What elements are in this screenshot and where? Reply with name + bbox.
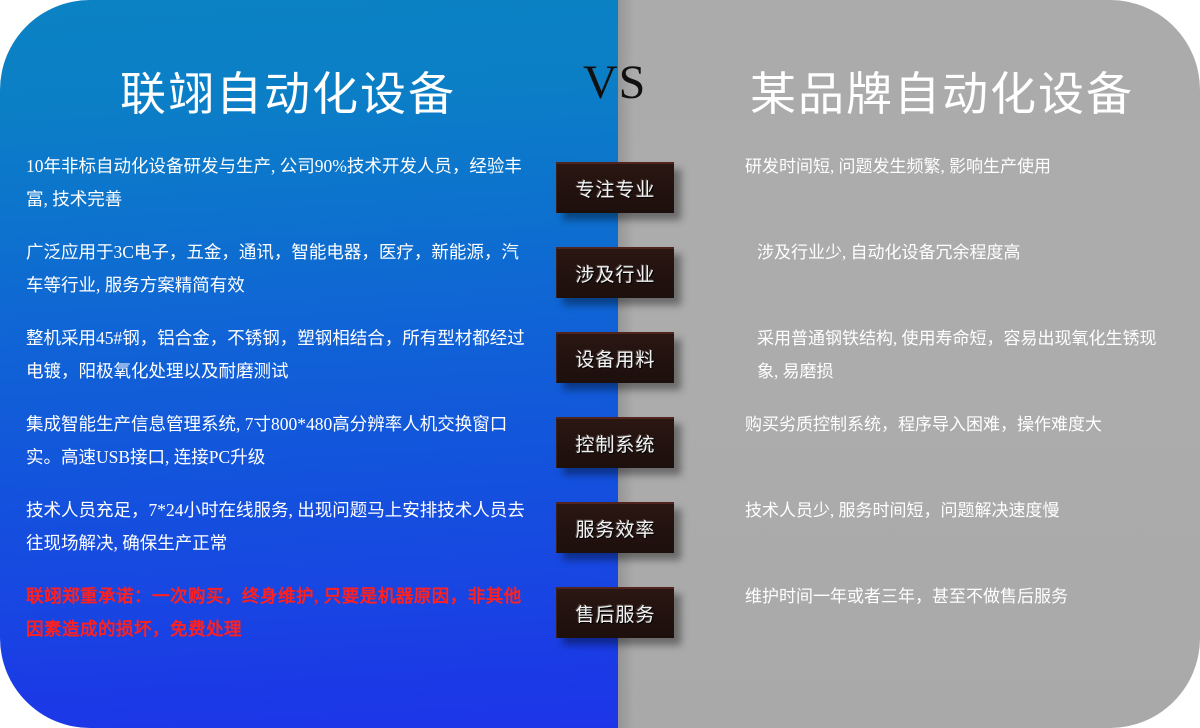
plaque-wrap-2: 涉及行业 [556, 247, 686, 332]
plaque-wrap-5: 服务效率 [556, 502, 686, 587]
left-row-2: 广泛应用于3C电子，五金，通讯，智能电器，医疗，新能源，汽车等行业, 服务方案精… [26, 236, 526, 322]
plaque-label: 设备用料 [575, 345, 655, 372]
plaque-label: 涉及行业 [575, 260, 655, 287]
category-plaque-zhuanzhuzhuanye[interactable]: 专注专业 [556, 162, 674, 213]
right-row-4: 购买劣质控制系统，程序导入困难，操作难度大 [745, 408, 1175, 494]
right-row-5: 技术人员少, 服务时间短，问题解决速度慢 [745, 494, 1175, 580]
left-row-5: 技术人员充足，7*24小时在线服务, 出现问题马上安排技术人员去往现场解决, 确… [26, 494, 526, 580]
category-plaque-shouhoufuwu[interactable]: 售后服务 [556, 587, 674, 638]
left-brand-title: 联翊自动化设备 [120, 58, 456, 124]
plaque-label: 控制系统 [575, 430, 655, 457]
left-row-4: 集成智能生产信息管理系统, 7寸800*480高分辨率人机交换窗口实。高速USB… [26, 408, 526, 494]
category-plaque-column: 专注专业 涉及行业 设备用料 控制系统 服务效率 售后服务 [556, 162, 686, 672]
category-plaque-kongzhixitong[interactable]: 控制系统 [556, 417, 674, 468]
left-row-6-promise: 联翊郑重承诺：一次购买，终身维护, 只要是机器原因，非其他因素造成的损坏，免费处… [26, 580, 526, 666]
right-brand-title: 某品牌自动化设备 [750, 58, 1134, 124]
right-row-6: 维护时间一年或者三年，甚至不做售后服务 [745, 580, 1175, 666]
right-drawbacks-column: 研发时间短, 问题发生频繁, 影响生产使用 涉及行业少, 自动化设备冗余程度高 … [745, 150, 1175, 666]
plaque-wrap-4: 控制系统 [556, 417, 686, 502]
left-row-3: 整机采用45#钢，铝合金，不锈钢，塑钢相结合，所有型材都经过电镀，阳极氧化处理以… [26, 322, 526, 408]
category-plaque-fuwuxiaolv[interactable]: 服务效率 [556, 502, 674, 553]
right-row-1: 研发时间短, 问题发生频繁, 影响生产使用 [745, 150, 1175, 236]
plaque-label: 专注专业 [575, 175, 655, 202]
vs-label: VS [583, 55, 646, 110]
plaque-label: 服务效率 [575, 515, 655, 542]
plaque-wrap-3: 设备用料 [556, 332, 686, 417]
right-row-3: 采用普通钢铁结构, 使用寿命短，容易出现氧化生锈现象, 易磨损 [745, 322, 1175, 408]
left-advantages-column: 10年非标自动化设备研发与生产, 公司90%技术开发人员，经验丰富, 技术完善 … [26, 150, 526, 666]
plaque-label: 售后服务 [575, 600, 655, 627]
right-row-2: 涉及行业少, 自动化设备冗余程度高 [745, 236, 1175, 322]
left-row-1: 10年非标自动化设备研发与生产, 公司90%技术开发人员，经验丰富, 技术完善 [26, 150, 526, 236]
category-plaque-shejihangye[interactable]: 涉及行业 [556, 247, 674, 298]
category-plaque-shebeiyongliao[interactable]: 设备用料 [556, 332, 674, 383]
plaque-wrap-1: 专注专业 [556, 162, 686, 247]
comparison-infographic: 联翊自动化设备 VS 某品牌自动化设备 10年非标自动化设备研发与生产, 公司9… [0, 0, 1200, 728]
plaque-wrap-6: 售后服务 [556, 587, 686, 672]
